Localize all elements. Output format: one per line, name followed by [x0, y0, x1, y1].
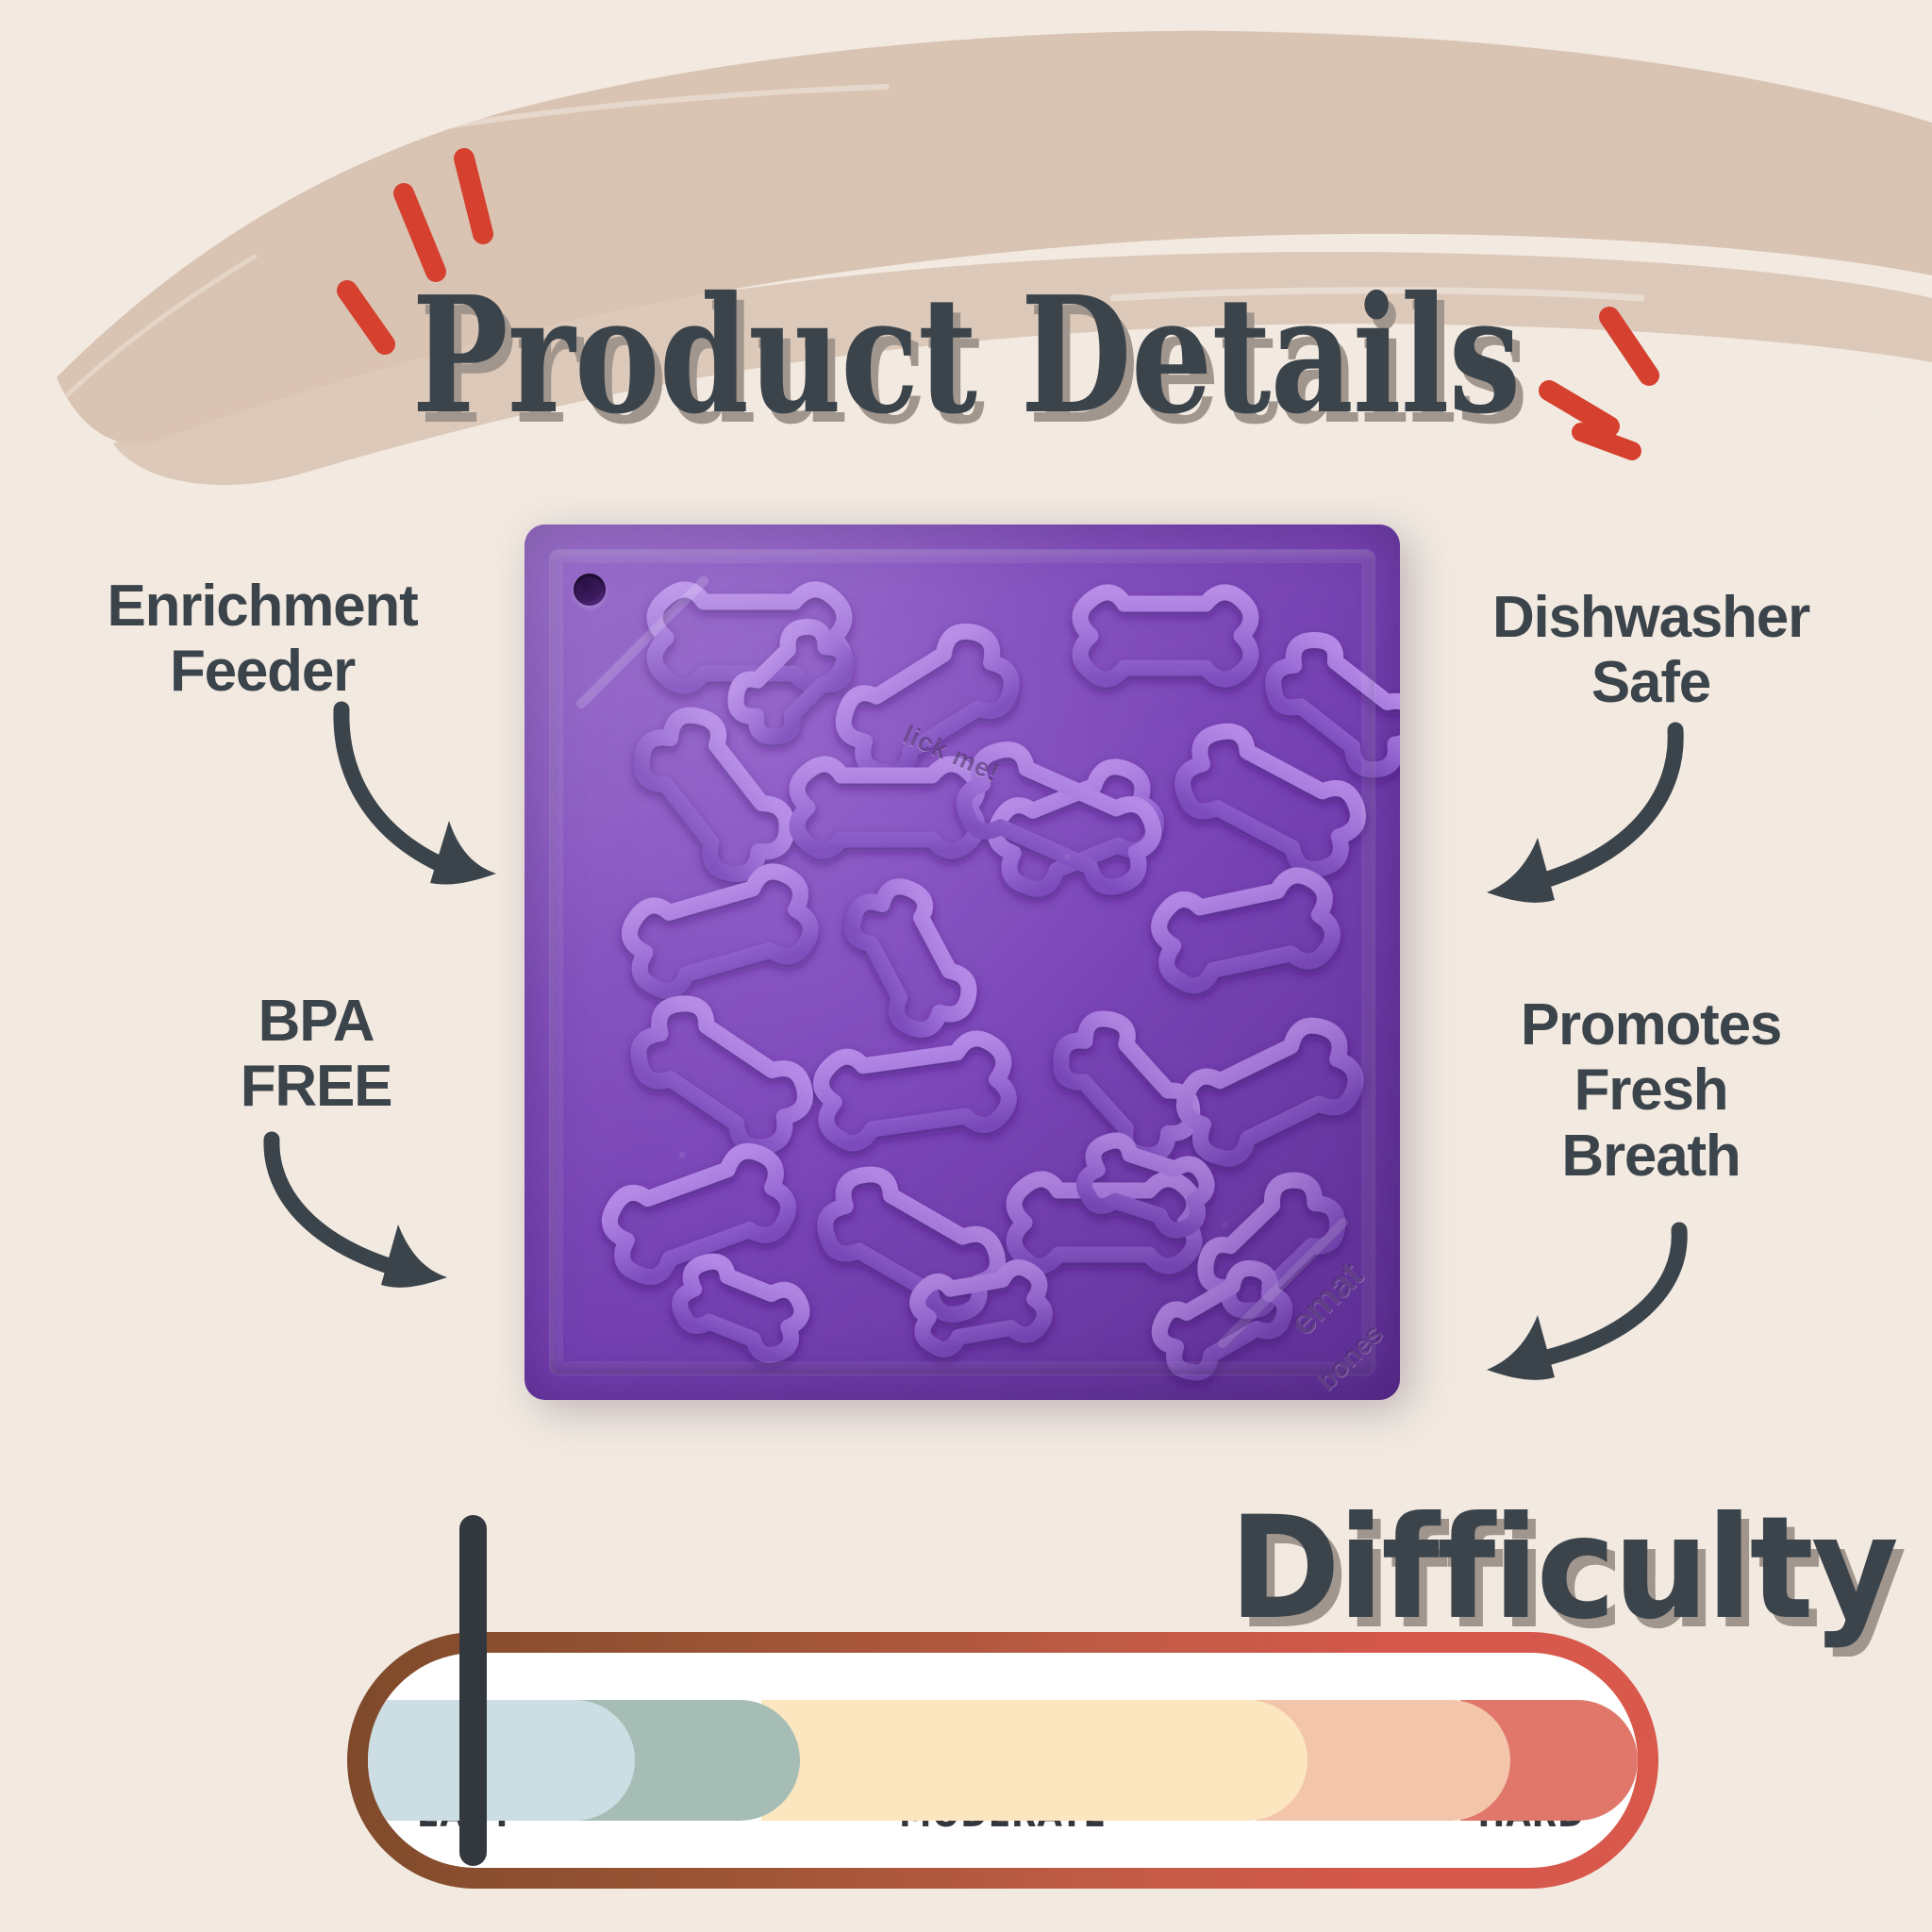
difficulty-heading: Difficulty: [1125, 1498, 1896, 1640]
feature-line: Feeder: [26, 639, 498, 704]
feature-label-enrichment-feeder: Enrichment Feeder: [26, 574, 498, 705]
curved-arrow-down-right-icon: [257, 1130, 558, 1309]
feature-line: BPA: [160, 989, 472, 1054]
lick-mat-product-image: lick me! emat bones: [525, 525, 1400, 1400]
mat-raised-border: [549, 549, 1375, 1375]
feature-line: Breath: [1443, 1124, 1858, 1189]
feature-line: FREE: [160, 1054, 472, 1119]
difficulty-segment-moderate: [761, 1700, 1307, 1821]
curved-arrow-down-left-icon: [1396, 1217, 1707, 1396]
feature-label-bpa-free: BPA FREE: [160, 989, 472, 1120]
feature-label-promotes-fresh-breath: Promotes Fresh Breath: [1443, 992, 1858, 1189]
infographic-canvas: Product Details: [0, 0, 1932, 1932]
feature-line: Promotes: [1443, 992, 1858, 1058]
difficulty-meter-track: EASY MODERATE HARD: [368, 1653, 1638, 1868]
feature-line: Fresh: [1443, 1058, 1858, 1123]
hang-hole-icon: [574, 574, 606, 606]
curved-arrow-down-left-icon: [1406, 717, 1707, 924]
page-title: Product Details: [193, 275, 1739, 436]
difficulty-meter[interactable]: EASY MODERATE HARD: [347, 1632, 1658, 1889]
feature-line: Safe: [1406, 650, 1896, 715]
difficulty-segment-easy: [368, 1700, 635, 1821]
feature-line: Enrichment: [26, 574, 498, 639]
difficulty-indicator-handle[interactable]: [459, 1515, 487, 1866]
feature-label-dishwasher-safe: Dishwasher Safe: [1406, 585, 1896, 716]
feature-line: Dishwasher: [1406, 585, 1896, 650]
